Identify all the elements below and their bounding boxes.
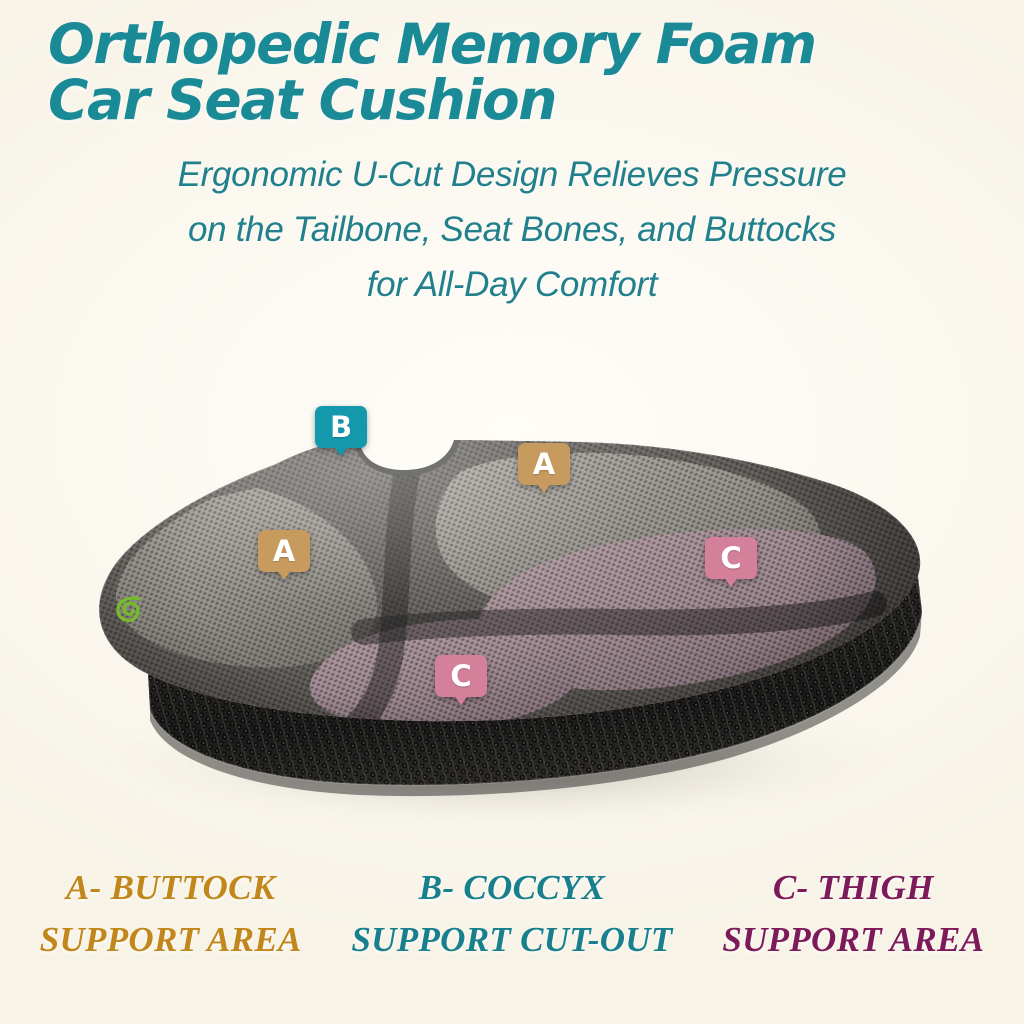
subtitle-line-2: on the Tailbone, Seat Bones, and Buttock… bbox=[40, 203, 984, 258]
subtitle: Ergonomic U-Cut Design Relieves Pressure… bbox=[0, 148, 1024, 313]
green-leaf-logo bbox=[112, 592, 146, 626]
cushion-vector bbox=[62, 380, 962, 800]
product-image-stage: B A A C bbox=[0, 350, 1024, 850]
marker-c-right-letter: C bbox=[705, 537, 757, 579]
caption-b-coccyx: B- COCCYX SUPPORT CUT-OUT bbox=[341, 862, 682, 982]
marker-b-letter: B bbox=[315, 406, 367, 448]
marker-c-thigh-right[interactable]: C bbox=[705, 537, 757, 585]
caption-a-buttock: A- BUTTOCK SUPPORT AREA bbox=[0, 862, 341, 982]
subtitle-line-1: Ergonomic U-Cut Design Relieves Pressure bbox=[40, 148, 984, 203]
page-title: Orthopedic Memory Foam Car Seat Cushion bbox=[0, 0, 1024, 128]
marker-c-thigh-front[interactable]: C bbox=[435, 655, 487, 703]
cushion-body: B A A C bbox=[62, 380, 962, 800]
caption-a-line-1: A- BUTTOCK bbox=[0, 862, 341, 914]
caption-c-line-2: SUPPORT AREA bbox=[683, 914, 1024, 966]
subtitle-line-3: for All-Day Comfort bbox=[40, 258, 984, 313]
marker-a-buttock-right[interactable]: A bbox=[518, 443, 570, 491]
marker-b-coccyx[interactable]: B bbox=[315, 406, 367, 454]
marker-a-buttock-left[interactable]: A bbox=[258, 530, 310, 578]
legend-captions: A- BUTTOCK SUPPORT AREA B- COCCYX SUPPOR… bbox=[0, 862, 1024, 982]
caption-c-line-1: C- THIGH bbox=[683, 862, 1024, 914]
header: Orthopedic Memory Foam Car Seat Cushion … bbox=[0, 0, 1024, 313]
caption-a-line-2: SUPPORT AREA bbox=[0, 914, 341, 966]
marker-a-left-letter: A bbox=[258, 530, 310, 572]
product-infographic-poster: Orthopedic Memory Foam Car Seat Cushion … bbox=[0, 0, 1024, 1024]
caption-b-line-1: B- COCCYX bbox=[341, 862, 682, 914]
caption-c-thigh: C- THIGH SUPPORT AREA bbox=[683, 862, 1024, 982]
marker-c-front-letter: C bbox=[435, 655, 487, 697]
marker-a-right-letter: A bbox=[518, 443, 570, 485]
title-line-1: Orthopedic Memory Foam bbox=[48, 16, 1024, 72]
seat-cushion-illustration: B A A C bbox=[62, 380, 962, 830]
title-line-2: Car Seat Cushion bbox=[48, 72, 1024, 128]
caption-b-line-2: SUPPORT CUT-OUT bbox=[341, 914, 682, 966]
